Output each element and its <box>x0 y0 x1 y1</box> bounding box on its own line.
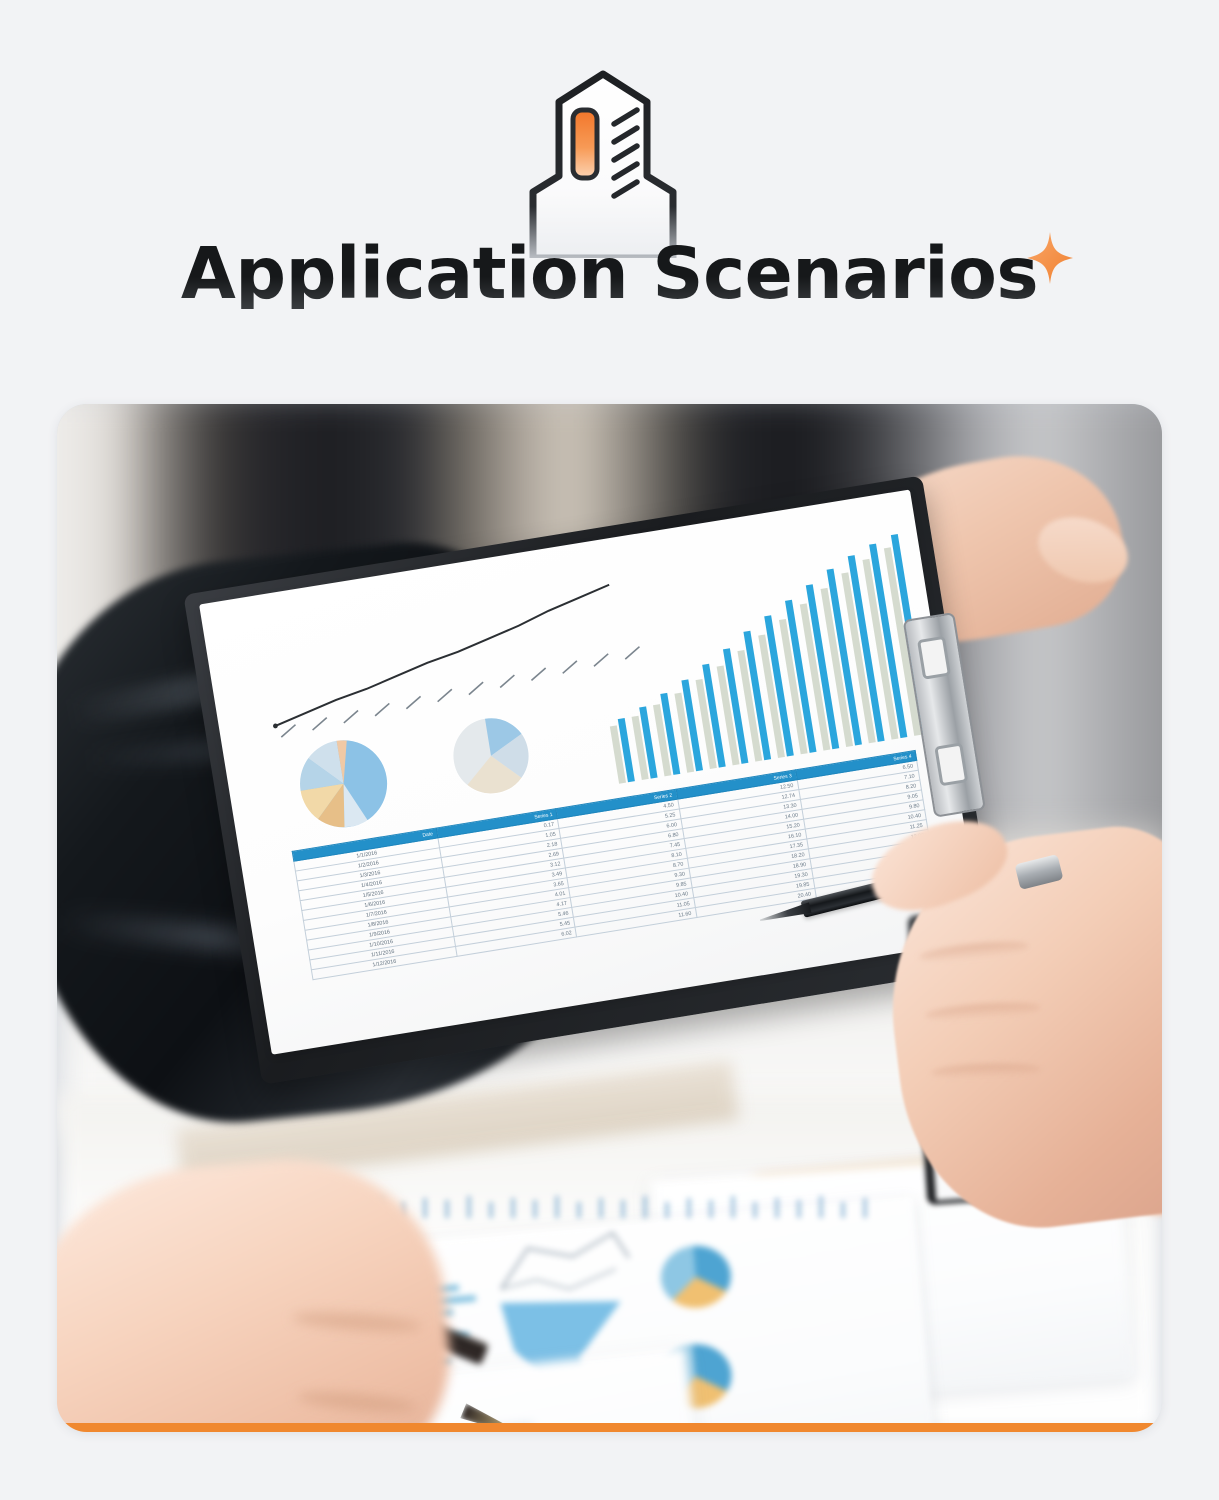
report-clipboard: Date Series 1 Series 2 Series 3 Series 4… <box>199 489 985 1068</box>
page-header: Application Scenarios <box>0 0 1219 380</box>
sparkle-icon <box>1027 232 1073 284</box>
scenario-photo-card: Date Series 1 Series 2 Series 3 Series 4… <box>57 404 1162 1432</box>
report-bar-chart <box>581 531 938 787</box>
page-title: Application Scenarios <box>181 238 1038 309</box>
building-tower-icon <box>497 68 709 258</box>
business-meeting-photo: Date Series 1 Series 2 Series 3 Series 4… <box>57 404 1162 1432</box>
tick-strip <box>357 1194 917 1222</box>
